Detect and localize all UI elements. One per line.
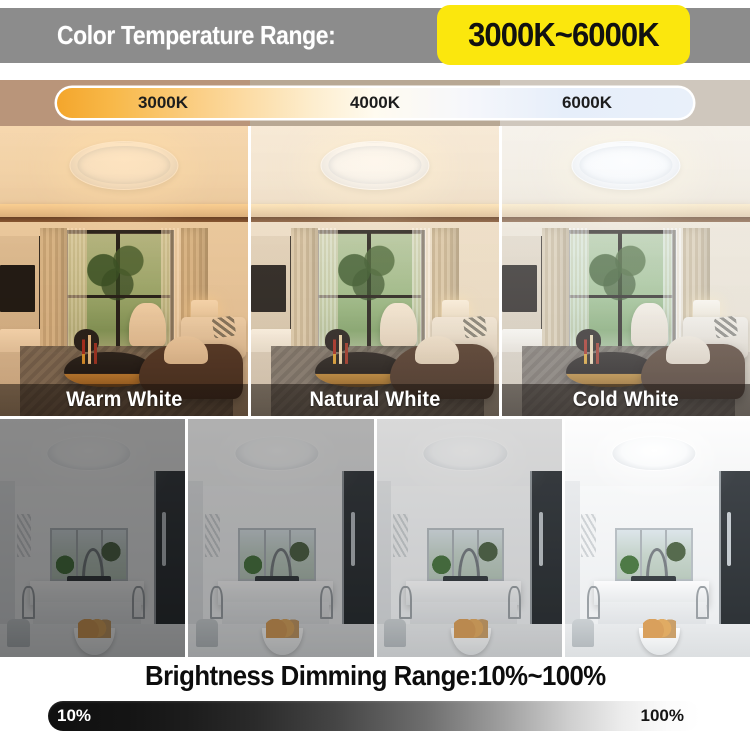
fruit: [78, 619, 111, 638]
chair-right: [320, 586, 333, 619]
stool: [572, 619, 594, 648]
color-temperature-badge: 3000K~6000K: [437, 5, 690, 65]
chair-left: [399, 586, 412, 619]
brightness-gradient-bar: 10% 100%: [48, 701, 700, 731]
dimming-photo-level-4: [565, 419, 750, 657]
fruit: [454, 619, 487, 638]
room-photo-cold-white: Cold White: [502, 126, 750, 416]
tall-cabinet: [719, 471, 750, 628]
room-label-text: Cold White: [573, 388, 679, 412]
dimming-photo-level-2: [188, 419, 373, 657]
left-cabinet: [0, 481, 15, 624]
table-bottles: [333, 329, 363, 364]
led-ceiling-light-icon: [69, 141, 178, 190]
scale-stop-6000k-label: 6000K: [562, 93, 612, 113]
chair-right: [696, 586, 709, 619]
cove-light: [502, 204, 750, 217]
living-room-scene: [0, 126, 248, 416]
table-bottles: [584, 329, 614, 364]
plant-right: [477, 533, 499, 566]
fruit: [643, 619, 676, 638]
wall-art: [393, 514, 408, 557]
kitchen-island: [594, 581, 709, 605]
chair-right: [508, 586, 521, 619]
chair-left: [210, 586, 223, 619]
color-temperature-badge-label: 3000K~6000K: [468, 16, 659, 54]
brightness-max-label: 100%: [641, 701, 684, 731]
wall-art: [581, 514, 596, 557]
color-temperature-scale: 3000K 4000K 6000K: [0, 80, 750, 126]
stool: [384, 619, 406, 648]
led-ceiling-light-icon: [320, 141, 429, 190]
cove-light: [0, 204, 248, 217]
product-infographic: Color Temperature Range: 3000K~6000K 300…: [0, 0, 750, 733]
armchair: [380, 303, 417, 347]
led-ceiling-light-icon: [571, 141, 680, 190]
plant-right: [665, 533, 687, 566]
chair-right: [132, 586, 145, 619]
left-cabinet: [188, 481, 203, 624]
armchair: [631, 303, 668, 347]
throw-pillow: [212, 316, 237, 339]
kitchen-island: [406, 581, 521, 605]
plant-left: [432, 548, 451, 577]
plant-right: [100, 533, 122, 566]
scale-stop-3000k-label: 3000K: [138, 93, 188, 113]
plant-left: [244, 548, 263, 577]
kitchen-scene: [377, 419, 562, 657]
room-label-cold-white: Cold White: [502, 384, 750, 416]
wall-art: [205, 514, 220, 557]
stool: [196, 619, 218, 648]
page-title: Color Temperature Range:: [57, 20, 335, 51]
scale-stop-3000k: 3000K: [57, 88, 269, 118]
chair-left: [22, 586, 35, 619]
tall-cabinet: [530, 471, 561, 628]
dimming-photo-level-3: [377, 419, 562, 657]
throw-pillow: [714, 316, 739, 339]
armchair: [129, 303, 166, 347]
dimming-comparison-row: [0, 419, 750, 657]
tall-cabinet: [154, 471, 185, 628]
left-cabinet: [565, 481, 580, 624]
table-bottles: [82, 329, 112, 364]
wall-art: [17, 514, 32, 557]
throw-pillow: [463, 316, 488, 339]
television: [251, 265, 286, 311]
kitchen-island: [218, 581, 333, 605]
kitchen-scene: [565, 419, 750, 657]
chair-left: [587, 586, 600, 619]
dimming-photo-level-1: [0, 419, 185, 657]
room-label-warm-white: Warm White: [0, 384, 248, 416]
scale-stop-6000k: 6000K: [481, 88, 693, 118]
stool: [7, 619, 29, 648]
color-temperature-gradient-bar: 3000K 4000K 6000K: [57, 88, 693, 118]
scale-stop-4000k: 4000K: [269, 88, 481, 118]
room-photo-natural-white: Natural White: [251, 126, 499, 416]
living-room-scene: [251, 126, 499, 416]
kitchen-island: [30, 581, 145, 605]
dimming-title-text: Brightness Dimming Range:10%~100%: [145, 660, 606, 692]
room-label-text: Natural White: [309, 388, 440, 412]
plant-left: [56, 548, 75, 577]
room-comparison-row: Warm White: [0, 126, 750, 416]
plant-left: [620, 548, 639, 577]
kitchen-scene: [188, 419, 373, 657]
room-label-natural-white: Natural White: [251, 384, 499, 416]
room-photo-warm-white: Warm White: [0, 126, 248, 416]
plant-right: [288, 533, 310, 566]
television: [0, 265, 35, 311]
cove-light: [251, 204, 499, 217]
tall-cabinet: [342, 471, 373, 628]
living-room-scene: [502, 126, 750, 416]
scale-stop-4000k-label: 4000K: [350, 93, 400, 113]
dimming-title: Brightness Dimming Range:10%~100%: [0, 655, 750, 697]
brightness-min-label: 10%: [57, 701, 91, 731]
fruit: [266, 619, 299, 638]
television: [502, 265, 537, 311]
room-label-text: Warm White: [66, 388, 182, 412]
kitchen-scene: [0, 419, 185, 657]
left-cabinet: [377, 481, 392, 624]
